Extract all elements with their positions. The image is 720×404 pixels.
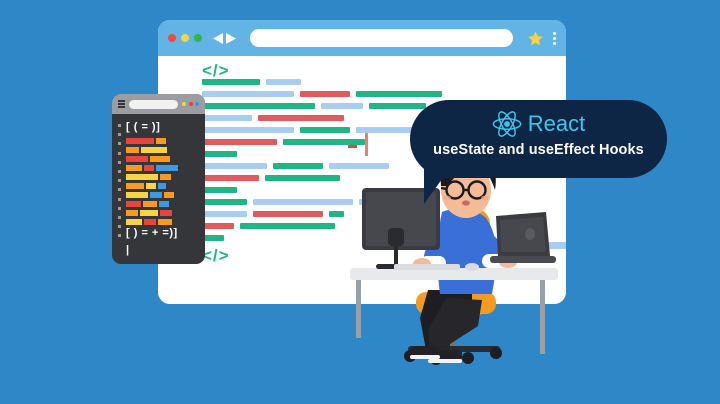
editor-code-token bbox=[140, 210, 158, 216]
address-bar[interactable] bbox=[250, 29, 513, 47]
editor-line-marker bbox=[118, 198, 121, 201]
editor-code-token bbox=[160, 210, 172, 216]
editor-line-marker bbox=[118, 152, 121, 155]
hamburger-menu-icon[interactable] bbox=[118, 100, 125, 108]
editor-dot-yellow[interactable] bbox=[182, 102, 186, 106]
developer-at-desk bbox=[350, 150, 600, 404]
editor-line-marker bbox=[118, 133, 121, 136]
editor-code-token bbox=[156, 138, 166, 144]
editor-code-token bbox=[126, 201, 141, 207]
editor-first-line: [ ( = )] bbox=[126, 122, 200, 133]
editor-code-token bbox=[126, 138, 154, 144]
editor-code-token bbox=[126, 174, 158, 180]
code-token bbox=[202, 127, 294, 133]
editor-dot-blue[interactable] bbox=[195, 102, 199, 106]
editor-code-token bbox=[164, 192, 174, 198]
editor-line-marker bbox=[118, 234, 121, 237]
editor-line-marker bbox=[118, 142, 121, 145]
back-arrow-icon[interactable] bbox=[213, 32, 224, 45]
minimize-dot[interactable] bbox=[181, 34, 189, 42]
editor-search-field[interactable] bbox=[129, 100, 178, 109]
poster-canvas: </> </> [ ( = )] [ ) = + =)] bbox=[0, 0, 720, 404]
editor-code-token bbox=[158, 219, 172, 225]
code-token bbox=[202, 175, 259, 181]
code-token bbox=[258, 115, 344, 121]
code-token bbox=[253, 199, 353, 205]
code-token bbox=[202, 115, 252, 121]
close-dot[interactable] bbox=[168, 34, 176, 42]
code-token bbox=[321, 103, 363, 109]
code-token bbox=[202, 139, 277, 145]
editor-content: [ ( = )] [ ) = + =)] | bbox=[112, 114, 205, 264]
editor-dot-red[interactable] bbox=[189, 102, 193, 106]
editor-code-token bbox=[150, 156, 170, 162]
editor-code-line bbox=[126, 165, 200, 171]
desk-leg-left bbox=[356, 280, 361, 338]
code-token bbox=[202, 163, 267, 169]
editor-code-line bbox=[126, 156, 200, 162]
editor-titlebar bbox=[112, 94, 205, 114]
code-line bbox=[202, 79, 566, 85]
code-token bbox=[202, 187, 237, 193]
editor-line-marker bbox=[118, 161, 121, 164]
editor-window-dots bbox=[182, 102, 199, 106]
code-token bbox=[265, 175, 340, 181]
editor-code-token bbox=[156, 165, 178, 171]
code-token bbox=[202, 79, 260, 85]
editor-line-marker bbox=[118, 124, 121, 127]
editor-code-token bbox=[141, 147, 167, 153]
editor-code-lines: [ ( = )] [ ) = + =)] | bbox=[126, 122, 200, 256]
editor-line-marker bbox=[118, 179, 121, 182]
editor-color-rows bbox=[126, 138, 200, 225]
code-token bbox=[283, 139, 365, 145]
react-logo-icon bbox=[492, 110, 522, 138]
forward-arrow-icon[interactable] bbox=[225, 32, 236, 45]
editor-code-token bbox=[126, 192, 148, 198]
editor-code-line bbox=[126, 183, 200, 189]
mouth bbox=[462, 200, 470, 205]
code-token bbox=[300, 127, 350, 133]
code-token bbox=[202, 91, 294, 97]
react-brand-row: React bbox=[410, 107, 667, 141]
editor-code-token bbox=[146, 183, 156, 189]
speech-bubble: React useState and useEffect Hooks bbox=[410, 100, 667, 178]
code-token bbox=[329, 211, 344, 217]
editor-code-line bbox=[126, 201, 200, 207]
editor-caret-line: | bbox=[126, 245, 200, 256]
editor-code-token bbox=[143, 201, 157, 207]
code-token bbox=[202, 235, 224, 241]
editor-code-token bbox=[150, 192, 162, 198]
editor-code-token bbox=[126, 147, 139, 153]
code-token bbox=[300, 91, 350, 97]
editor-line-marker bbox=[118, 188, 121, 191]
desk-leg-right bbox=[540, 280, 545, 354]
editor-line-marker bbox=[118, 170, 121, 173]
browser-chrome bbox=[158, 20, 566, 56]
keyboard bbox=[394, 264, 460, 270]
traffic-light-dots bbox=[168, 34, 202, 42]
code-token bbox=[202, 223, 234, 229]
code-token bbox=[202, 103, 315, 109]
editor-code-line bbox=[126, 147, 200, 153]
laptop bbox=[490, 212, 556, 263]
editor-code-token bbox=[126, 219, 142, 225]
editor-code-line bbox=[126, 138, 200, 144]
editor-line-marker bbox=[118, 216, 121, 219]
dark-code-editor: [ ( = )] [ ) = + =)] | bbox=[112, 94, 205, 264]
code-token bbox=[253, 211, 323, 217]
editor-code-token bbox=[126, 156, 148, 162]
star-icon[interactable] bbox=[527, 30, 544, 47]
editor-code-token bbox=[160, 174, 171, 180]
editor-code-token bbox=[158, 183, 166, 189]
navigation-arrows bbox=[213, 32, 236, 45]
code-open-tag: </> bbox=[202, 62, 566, 79]
editor-code-token bbox=[159, 201, 169, 207]
kebab-menu-icon[interactable] bbox=[553, 32, 556, 45]
code-token bbox=[202, 199, 247, 205]
editor-code-line bbox=[126, 192, 200, 198]
editor-last-line: [ ) = + =)] bbox=[126, 228, 200, 239]
editor-code-line bbox=[126, 210, 200, 216]
maximize-dot[interactable] bbox=[194, 34, 202, 42]
code-token bbox=[273, 163, 323, 169]
editor-code-line bbox=[126, 219, 200, 225]
editor-line-gutter bbox=[118, 124, 121, 243]
code-token bbox=[240, 223, 335, 229]
mouse bbox=[465, 263, 479, 271]
editor-code-line bbox=[126, 174, 200, 180]
code-token bbox=[202, 151, 237, 157]
code-token bbox=[266, 79, 301, 85]
code-token bbox=[356, 91, 442, 97]
editor-code-token bbox=[144, 219, 156, 225]
bubble-subtitle: useState and useEffect Hooks bbox=[410, 142, 667, 158]
editor-line-marker bbox=[118, 207, 121, 210]
code-line bbox=[202, 91, 566, 97]
editor-code-token bbox=[126, 210, 138, 216]
code-token bbox=[202, 211, 247, 217]
editor-code-token bbox=[126, 183, 144, 189]
editor-code-token bbox=[144, 165, 154, 171]
editor-line-marker bbox=[118, 225, 121, 228]
react-brand-label: React bbox=[528, 113, 585, 135]
editor-code-token bbox=[126, 165, 142, 171]
